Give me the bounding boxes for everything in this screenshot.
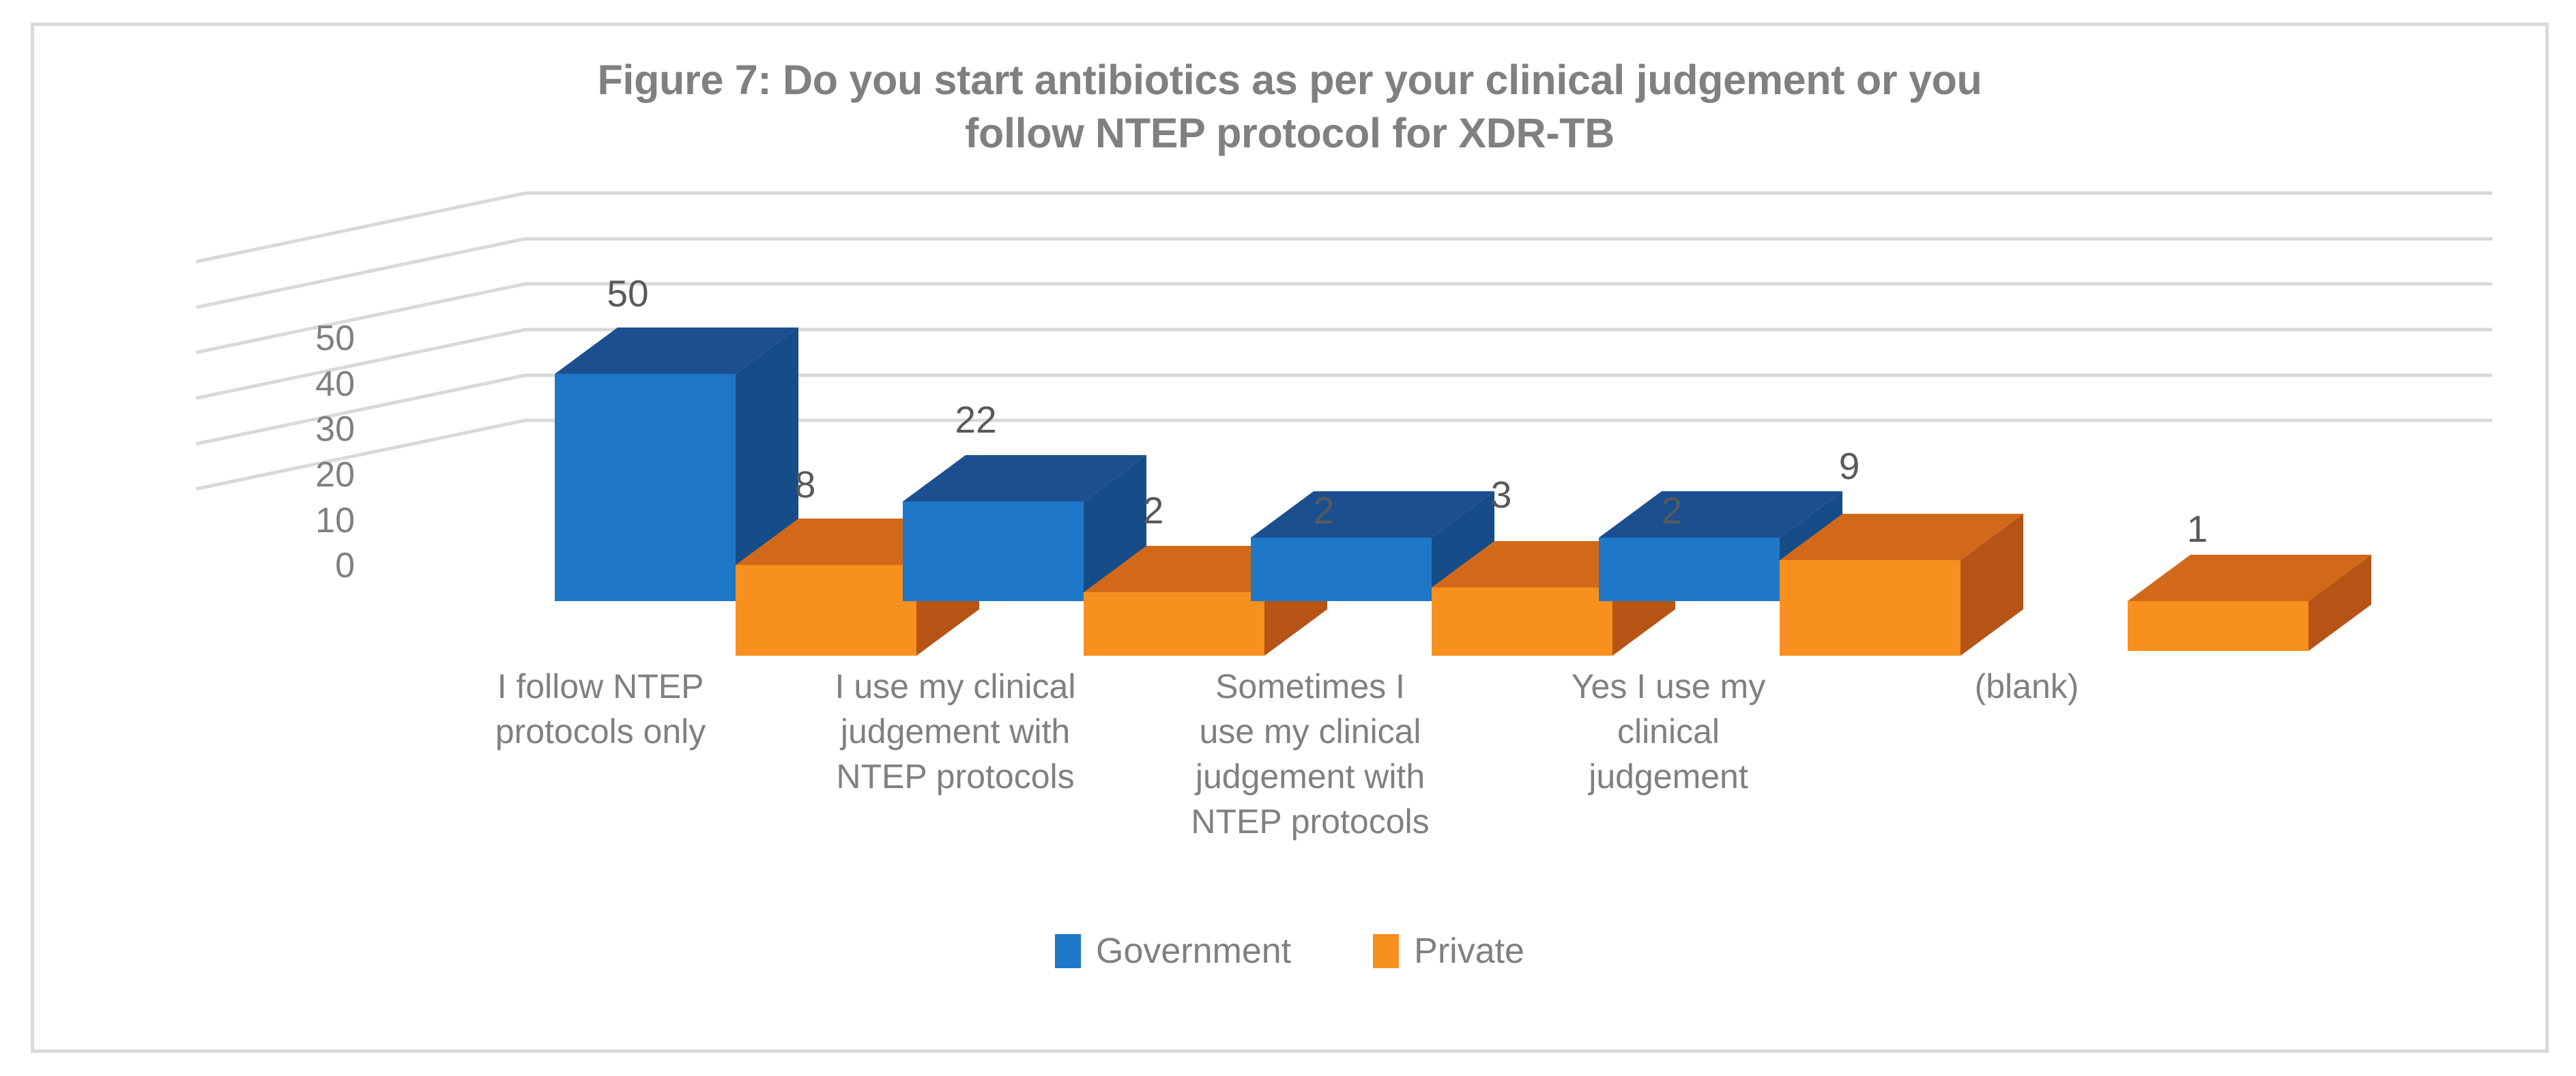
category-label-3: Sometimes I use my clinical judgement wi… [1136,664,1484,844]
category-label-4: Yes I use my clinical judgement [1494,664,1842,799]
data-label-government-cat4: 2 [1617,492,1726,529]
y-tick-40: 40 [259,366,355,402]
bar-front-face [1432,587,1612,656]
legend-swatch-private-icon [1373,934,1399,968]
gridlines [198,193,2491,489]
data-label-government-cat2: 22 [921,401,1030,439]
data-label-private-cat1: 8 [751,466,860,504]
gridline-10 [198,375,2491,444]
data-label-government-cat3: 2 [1269,492,1378,529]
chart-legend: Government Private [34,933,2545,969]
bar-private-cat4[interactable] [1780,514,2023,656]
y-tick-30: 30 [259,411,355,447]
data-label-government-cat1: 50 [573,275,682,312]
bar-front-face [736,565,916,656]
bar-private-cat5[interactable] [2128,555,2371,651]
legend-label-government: Government [1096,933,1291,969]
y-tick-10: 10 [259,503,355,538]
bar-front-face [1084,592,1264,656]
bar-front-face [903,501,1084,601]
gridline-0 [198,420,2491,489]
legend-item-government[interactable]: Government [1055,933,1291,969]
y-tick-50: 50 [259,321,355,356]
chart-container: Figure 7: Do you start antibiotics as pe… [31,23,2549,1053]
data-label-private-cat3: 3 [1447,476,1556,514]
plot-area: 50 40 30 20 10 0 50 8 22 2 2 3 2 9 1 I f… [34,26,2545,1049]
bar-front-face [555,374,736,601]
gridline-40 [198,239,2491,307]
y-tick-20: 20 [259,457,355,493]
category-label-2: I use my clinical judgement with NTEP pr… [781,664,1129,799]
bar-front-face [1780,560,1960,656]
gridline-20 [198,330,2491,398]
category-label-1: I follow NTEP protocols only [430,664,771,754]
legend-item-private[interactable]: Private [1373,933,1524,969]
legend-label-private: Private [1414,933,1524,969]
data-label-private-cat2: 2 [1099,492,1208,529]
gridline-30 [198,284,2491,352]
bar-front-face [1599,538,1780,601]
legend-swatch-government-icon [1055,934,1081,968]
category-label-5: (blank) [1853,664,2201,709]
y-tick-0: 0 [259,548,355,583]
bar-front-face [1251,538,1432,601]
gridline-50 [198,193,2491,261]
data-label-private-cat5: 1 [2143,510,2252,548]
bar-front-face [2128,601,2309,651]
data-label-private-cat4: 9 [1795,448,1904,485]
